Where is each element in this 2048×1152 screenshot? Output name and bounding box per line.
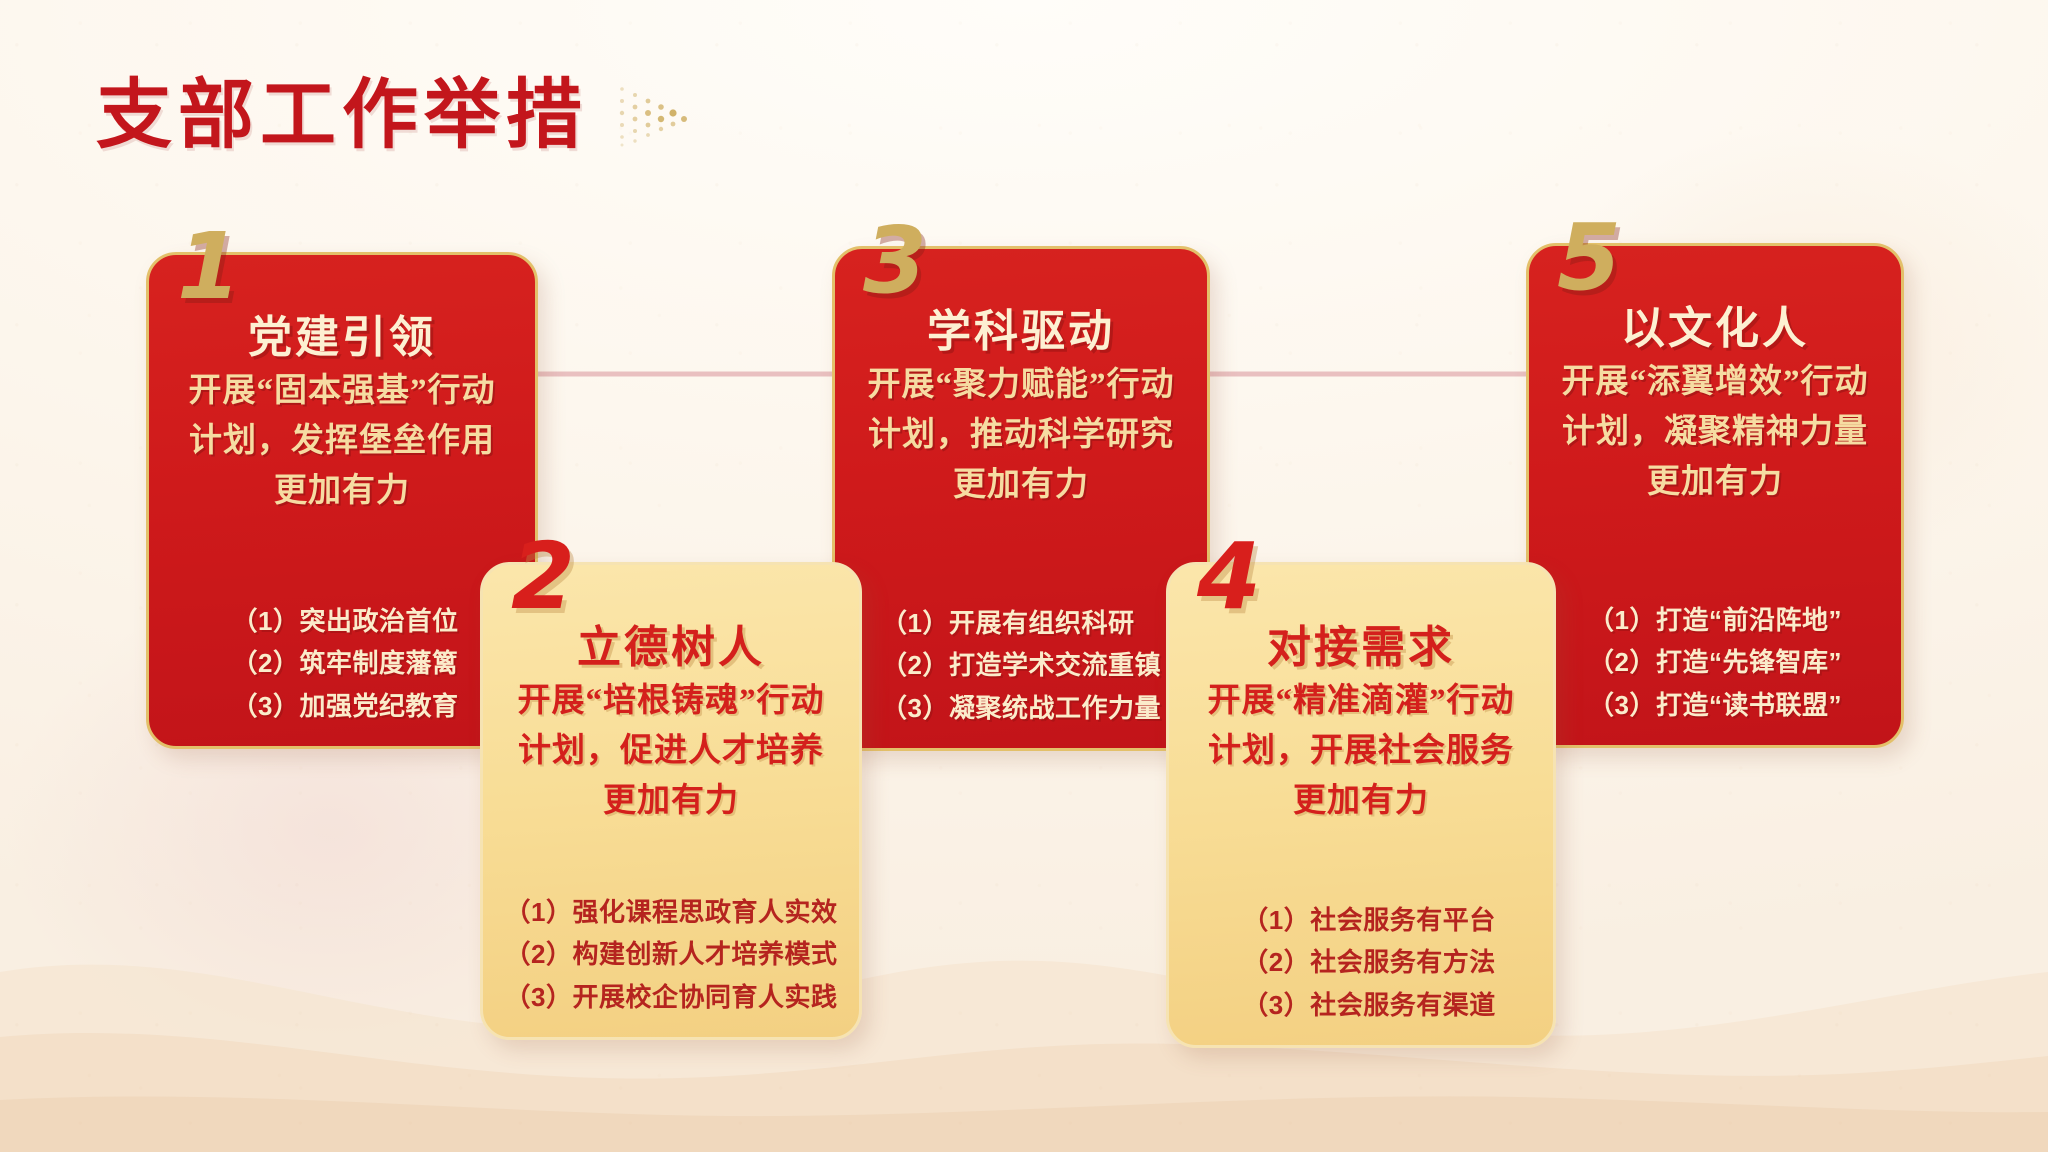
card-item-list: （1）打造“前沿阵地” （2）打造“先锋智库” （3）打造“读书联盟” [1588, 604, 1842, 723]
list-item: （3）开展校企协同育人实践 [505, 981, 838, 1015]
list-item: （3）社会服务有渠道 [1242, 989, 1495, 1023]
list-item: （3）加强党纪教育 [232, 690, 459, 724]
card-description: 开展“固本强基”行动计划，发挥堡垒作用更加有力 [175, 366, 509, 516]
card-heading: 党建引领 [175, 315, 509, 362]
page-title: 支部工作举措 [96, 78, 588, 154]
card-description: 开展“培根铸魂”行动计划，促进人才培养更加有力 [509, 676, 833, 826]
list-item: （3）凝聚统战工作力量 [881, 692, 1161, 726]
card-item-list: （1）突出政治首位 （2）筑牢制度藩篱 （3）加强党纪教育 [226, 605, 459, 724]
list-item: （1）强化课程思政育人实效 [505, 896, 838, 930]
list-item: （3）打造“读书联盟” [1588, 689, 1842, 723]
measure-card-4[interactable]: 4 对接需求 开展“精准滴灌”行动计划，开展社会服务更加有力 （1）社会服务有平… [1166, 562, 1556, 1048]
card-number-badge: 2 [511, 531, 573, 623]
card-description: 开展“精准滴灌”行动计划，开展社会服务更加有力 [1195, 676, 1527, 826]
card-number-badge: 3 [863, 215, 925, 307]
page-header: 支部工作举措 [96, 78, 700, 154]
card-description: 开展“聚力赋能”行动计划，推动科学研究更加有力 [861, 360, 1181, 510]
slide-canvas: 支部工作举措 [0, 0, 2048, 1152]
card-heading: 对接需求 [1195, 625, 1527, 672]
halftone-arrow-icon [614, 79, 700, 153]
card-heading: 立德树人 [509, 625, 833, 672]
card-number-badge: 5 [1557, 212, 1619, 304]
list-item: （1）开展有组织科研 [881, 607, 1161, 641]
measure-card-3[interactable]: 3 学科驱动 开展“聚力赋能”行动计划，推动科学研究更加有力 （1）开展有组织科… [832, 246, 1210, 751]
card-number-badge: 1 [177, 221, 239, 313]
list-item: （2）构建创新人才培养模式 [505, 938, 838, 972]
list-item: （1）打造“前沿阵地” [1588, 604, 1842, 638]
card-item-list: （1）强化课程思政育人实效 （2）构建创新人才培养模式 （3）开展校企协同育人实… [505, 896, 838, 1015]
list-item: （2）打造“先锋智库” [1588, 646, 1842, 680]
card-number-badge: 4 [1197, 531, 1259, 623]
card-heading: 以文化人 [1555, 306, 1875, 353]
background-mountain-texture [0, 822, 2048, 1152]
measure-card-2[interactable]: 2 立德树人 开展“培根铸魂”行动计划，促进人才培养更加有力 （1）强化课程思政… [480, 562, 862, 1040]
card-item-list: （1）开展有组织科研 （2）打造学术交流重镇 （3）凝聚统战工作力量 [881, 607, 1161, 726]
list-item: （2）筑牢制度藩篱 [232, 647, 459, 681]
card-description: 开展“添翼增效”行动计划，凝聚精神力量更加有力 [1555, 357, 1875, 507]
list-item: （2）社会服务有方法 [1242, 946, 1495, 980]
list-item: （1）社会服务有平台 [1242, 904, 1495, 938]
list-item: （1）突出政治首位 [232, 605, 459, 639]
measure-card-5[interactable]: 5 以文化人 开展“添翼增效”行动计划，凝聚精神力量更加有力 （1）打造“前沿阵… [1526, 243, 1904, 748]
list-item: （2）打造学术交流重镇 [881, 649, 1161, 683]
card-item-list: （1）社会服务有平台 （2）社会服务有方法 （3）社会服务有渠道 [1226, 904, 1495, 1023]
card-heading: 学科驱动 [861, 309, 1181, 356]
